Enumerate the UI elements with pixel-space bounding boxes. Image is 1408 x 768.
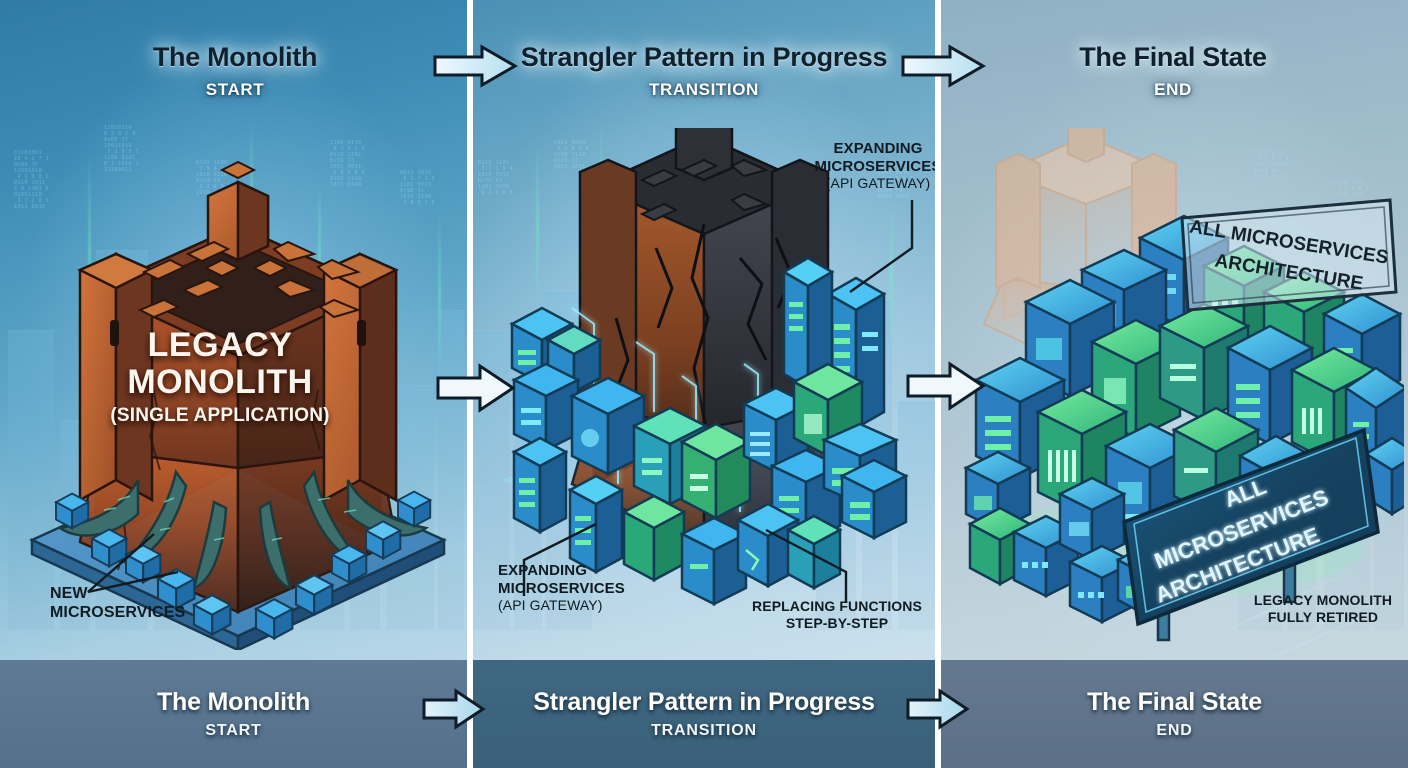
annotation-line2: STEP-BY-STEP [742, 615, 932, 632]
footer-title-2: Strangler Pattern in Progress [533, 688, 875, 717]
annotation-new-microservices: NEW MICROSERVICES [50, 585, 185, 623]
annotation-line2: FULLY RETIRED [1238, 609, 1408, 626]
flow-arrow-top-2 [900, 44, 986, 88]
footer-subtitle-2: TRANSITION [651, 722, 757, 740]
annotation-line2: MICROSERVICES [798, 158, 938, 176]
panel-monolith: 01101001 10 4 2 7 1 0x8A 3F 11001010 4 1… [0, 0, 470, 768]
annotation-expanding-microservices-top: EXPANDING MICROSERVICES (API GATEWAY) [798, 140, 938, 192]
footer-subtitle-1: START [205, 722, 261, 740]
annotation-line2: MICROSERVICES [498, 580, 625, 598]
annotation-line1: EXPANDING [498, 562, 625, 580]
annotation-legacy-monolith-retired: LEGACY MONOLITH FULLY RETIRED [1238, 592, 1408, 625]
annotation-line1: EXPANDING [798, 140, 938, 158]
panel-final-state: 1100 1010 4 2 8 1 6 0101 0111 0x3E 88 10… [938, 0, 1408, 768]
footer-cell-strangler: Strangler Pattern in Progress TRANSITION [473, 660, 935, 768]
annotation-line3: (API GATEWAY) [498, 597, 625, 614]
footer-subtitle-3: END [1156, 722, 1192, 740]
flow-arrow-middle-1 [436, 360, 516, 416]
annotation-line1: NEW [50, 585, 185, 604]
sign-all-microservices-architecture-upper: ALL MICROSERVICES ARCHITECTURE [1176, 196, 1402, 316]
annotation-replacing-functions: REPLACING FUNCTIONS STEP-BY-STEP [742, 598, 932, 631]
replacing-functions-leader [746, 526, 856, 606]
annotation-expanding-microservices-bottom: EXPANDING MICROSERVICES (API GATEWAY) [498, 562, 625, 614]
flow-arrow-footer-2 [906, 688, 970, 735]
diagram-canvas: 01101001 10 4 2 7 1 0x8A 3F 11001010 4 1… [0, 0, 1408, 768]
flow-arrow-top-1 [432, 44, 518, 88]
annotation-line1: REPLACING FUNCTIONS [742, 598, 932, 615]
flow-arrow-middle-2 [906, 358, 986, 414]
footer-stage-bar: The Monolith START Strangler Pattern in … [0, 660, 1408, 768]
annotation-line1: LEGACY MONOLITH [1238, 592, 1408, 609]
footer-title-1: The Monolith [157, 688, 310, 717]
expanding-microservices-top-leader [790, 196, 920, 296]
footer-title-3: The Final State [1087, 688, 1262, 717]
annotation-line3: (API GATEWAY) [798, 175, 938, 192]
flow-arrow-footer-1 [422, 688, 486, 735]
footer-cell-final: The Final State END [941, 660, 1408, 768]
annotation-line2: MICROSERVICES [50, 604, 185, 623]
panel-strangler: 0110 1101 3 7 1 9 4 1010 0011 0x7C 52 11… [470, 0, 938, 768]
footer-cell-monolith: The Monolith START [0, 660, 467, 768]
